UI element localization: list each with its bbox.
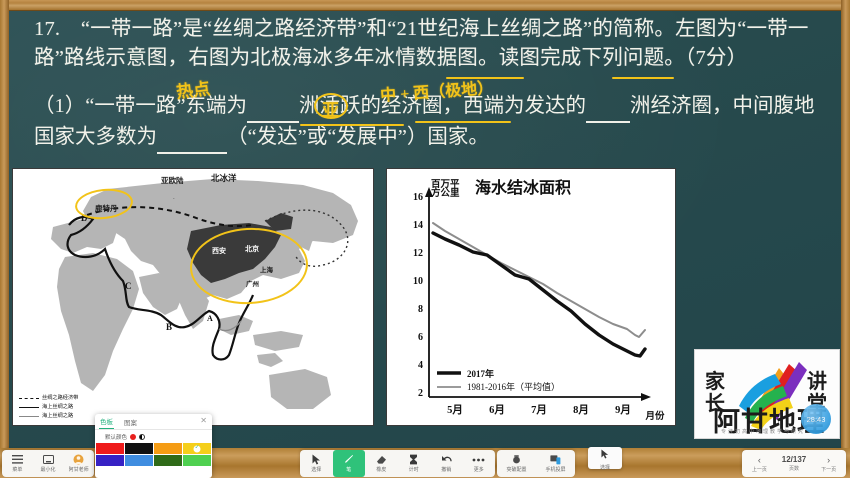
svg-text:8月: 8月 — [573, 404, 589, 416]
legend-grey-icon — [19, 416, 39, 417]
spotlight-button[interactable]: 突破配置 — [497, 450, 536, 477]
default-color-label: 默认颜色 — [105, 433, 127, 441]
chart-figure: 16 14 12 10 8 6 4 2 5月 6月 7月 8月 9月 月份 百万… — [386, 168, 676, 426]
svg-text:8: 8 — [418, 304, 423, 315]
undo-label: 撤销 — [441, 466, 451, 473]
legend-item: 海上丝绸之路 — [19, 412, 78, 421]
svg-text:6月: 6月 — [489, 404, 505, 416]
check-icon: ✓ — [194, 445, 201, 452]
swatch-blue[interactable] — [125, 455, 153, 466]
default-color-contrast-icon[interactable] — [139, 434, 145, 440]
chalk-underline-economy — [415, 121, 511, 123]
select-tool-button[interactable]: 选择 — [300, 450, 333, 477]
teacher-avatar-button[interactable]: 阿甘老师 — [63, 450, 94, 477]
chart-svg: 16 14 12 10 8 6 4 2 5月 6月 7月 8月 9月 月份 百万… — [387, 169, 675, 425]
svg-text:C: C — [125, 281, 132, 291]
map-legend: 丝绸之路经济带 海上丝绸之路 海上丝绸之路 — [19, 394, 78, 421]
pen-label: 笔 — [346, 466, 351, 473]
close-icon[interactable]: ✕ — [200, 417, 207, 425]
swatch-yellow-selected[interactable]: ✓ — [183, 443, 211, 454]
default-color-row[interactable]: 默认颜色 — [95, 430, 212, 443]
svg-text:9月: 9月 — [615, 404, 631, 416]
prev-page-button[interactable]: ‹ 上一页 — [742, 450, 777, 477]
more-icon — [472, 454, 485, 465]
frame-top — [0, 0, 850, 11]
timer-tool-button[interactable]: 计时 — [398, 450, 431, 477]
legend-label: 海上丝绸之路 — [42, 412, 73, 421]
svg-text:1981-2016年（平均值）: 1981-2016年（平均值） — [467, 381, 560, 392]
legend-item: 海上丝绸之路 — [19, 403, 78, 412]
swatch-green[interactable] — [183, 455, 211, 466]
next-page-button[interactable]: › 下一页 — [811, 450, 846, 477]
palette-tab-bar: 色板 图案 ✕ — [95, 414, 212, 430]
frame-right — [841, 0, 850, 478]
sub1-text-d: （“发达”或“发展中”）国家。 — [227, 126, 489, 148]
undo-icon — [441, 454, 452, 465]
svg-text:海水结冰面积: 海水结冰面积 — [475, 178, 571, 197]
frame-left — [0, 0, 9, 478]
legend-label: 丝绸之路经济带 — [42, 394, 78, 403]
minimize-button[interactable]: 最小化 — [33, 450, 64, 477]
channel-logo: 家 长 讲 堂 阿甘地理 专注初高中地理教学与研究 28:43 — [694, 349, 840, 439]
minimize-label: 最小化 — [41, 466, 56, 473]
chevron-left-icon: ‹ — [758, 455, 761, 465]
more-button[interactable]: 更多 — [463, 450, 496, 477]
next-page-label: 下一页 — [821, 466, 836, 473]
legend-dash-icon — [19, 398, 39, 399]
svg-text:10: 10 — [413, 276, 423, 287]
select-label: 选择 — [311, 466, 321, 473]
toolbar-main[interactable]: 选择 笔 橡皮 计时 撤销 — [300, 450, 495, 477]
swatch-black[interactable] — [125, 443, 153, 454]
logo-char-jiang: 讲 — [807, 372, 827, 392]
svg-text:4: 4 — [418, 360, 423, 371]
pen-icon — [343, 454, 354, 465]
chalk-underline-asia — [300, 124, 404, 126]
timer-icon — [409, 454, 418, 465]
sub1-text-a: （1）“一带一路”东端为 — [34, 95, 247, 117]
question-subitem-1: （1）“一带一路”东端为 洲活跃的经济圈，西端为发达的 洲经济圈，中间腹地国家大… — [34, 92, 824, 154]
svg-text:方公里: 方公里 — [431, 187, 460, 199]
swatch-dark-green[interactable] — [154, 455, 182, 466]
menu-button[interactable]: 菜单 — [2, 450, 33, 477]
eraser-tool-button[interactable]: 橡皮 — [365, 450, 398, 477]
legend-item: 丝绸之路经济带 — [19, 394, 78, 403]
chalk-circle-asia — [314, 93, 348, 119]
page-count-label: 页数 — [789, 465, 799, 472]
svg-text:2: 2 — [418, 388, 423, 399]
svg-text:.: . — [173, 193, 175, 201]
svg-text:北冰洋: 北冰洋 — [211, 173, 237, 183]
page-indicator[interactable]: 12/137 页数 — [777, 450, 812, 477]
cursor-tooltip: 选择 — [588, 447, 622, 469]
eraser-icon — [376, 454, 387, 465]
chalk-underline-bingqing — [446, 77, 524, 79]
swatch-red[interactable] — [96, 443, 124, 454]
phone-cast-button[interactable]: 手机投屏 — [536, 450, 575, 477]
map-figure: 亚欧陆 北冰洋 鹿特丹 D 西安 北京 上海 广州 C B A . 丝绸之路经济… — [12, 168, 374, 426]
cursor-icon — [312, 454, 321, 465]
menu-label: 菜单 — [12, 466, 22, 473]
pager[interactable]: ‹ 上一页 12/137 页数 › 下一页 — [742, 450, 846, 477]
default-color-red-icon[interactable] — [130, 434, 136, 440]
cursor-tooltip-label: 选择 — [600, 464, 610, 471]
eraser-label: 橡皮 — [376, 466, 386, 473]
svg-text:5月: 5月 — [447, 404, 463, 416]
phone-label: 手机投屏 — [545, 466, 565, 473]
swatch-orange[interactable] — [154, 443, 182, 454]
legend-label: 海上丝绸之路 — [42, 403, 73, 412]
chevron-right-icon: › — [827, 455, 830, 465]
legend-solid-icon — [19, 407, 39, 408]
timer-badge: 28:43 — [801, 404, 831, 434]
svg-text:16: 16 — [413, 192, 423, 203]
tab-color-board[interactable]: 色板 — [99, 414, 114, 429]
menu-icon — [12, 454, 23, 465]
cursor-icon — [601, 446, 609, 464]
toolbar-left[interactable]: 菜单 最小化 阿甘老师 — [2, 450, 94, 477]
avatar-icon — [73, 454, 84, 465]
phone-icon — [550, 454, 561, 465]
svg-text:B: B — [166, 322, 172, 332]
logo-slogan: 专注初高中地理教学与研究 — [721, 428, 805, 435]
chalk-underline-shuju — [612, 77, 674, 79]
prev-page-label: 上一页 — [752, 466, 767, 473]
timer-label: 计时 — [409, 466, 419, 473]
page-number: 12/137 — [782, 455, 806, 464]
more-label: 更多 — [474, 466, 484, 473]
screen-root: 17. “一带一路”是“丝绸之路经济带”和“21世纪海上丝绸之路”的简称。左图为… — [0, 0, 850, 478]
svg-text:2017年: 2017年 — [467, 368, 494, 379]
teacher-label: 阿甘老师 — [69, 466, 89, 473]
svg-text:A: A — [207, 314, 213, 323]
swatch-indigo[interactable] — [96, 455, 124, 466]
spotlight-label: 突破配置 — [506, 466, 526, 473]
pen-tool-button[interactable]: 笔 — [333, 450, 366, 477]
minimize-icon — [43, 454, 54, 465]
svg-text:月份: 月份 — [644, 410, 665, 422]
color-palette-popup[interactable]: 色板 图案 ✕ 默认颜色 ✓ — [95, 414, 212, 478]
spotlight-icon — [511, 454, 522, 465]
svg-text:亚欧陆: 亚欧陆 — [161, 175, 184, 185]
map-svg: 亚欧陆 北冰洋 鹿特丹 D 西安 北京 上海 广州 C B A . — [13, 169, 373, 425]
tab-pattern[interactable]: 图案 — [123, 415, 138, 429]
color-swatch-grid[interactable]: ✓ — [95, 443, 212, 467]
svg-text:14: 14 — [413, 220, 423, 231]
undo-button[interactable]: 撤销 — [430, 450, 463, 477]
question-paragraph: 17. “一带一路”是“丝绸之路经济带”和“21世纪海上丝绸之路”的简称。左图为… — [34, 15, 824, 73]
toolbar-right[interactable]: 突破配置 手机投屏 — [497, 450, 575, 477]
logo-char-jia: 家 — [705, 372, 725, 392]
svg-text:6: 6 — [418, 332, 423, 343]
svg-text:12: 12 — [413, 248, 423, 259]
svg-text:7月: 7月 — [531, 404, 547, 416]
